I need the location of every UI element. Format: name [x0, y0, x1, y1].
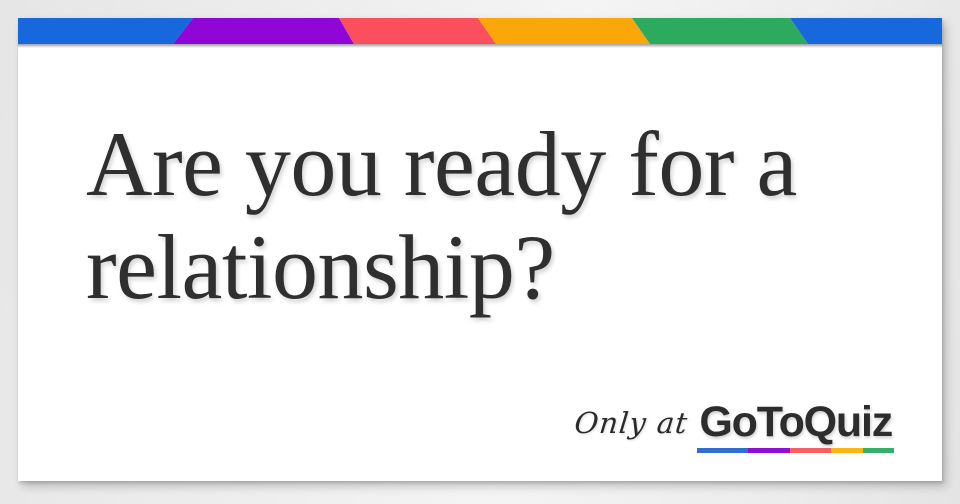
page-title-line-2: relationship?: [86, 216, 555, 318]
brand-tagline: Only at: [572, 406, 690, 453]
rainbow-stripe-band: [18, 18, 942, 44]
brand-rule-segment-red: [790, 448, 831, 453]
stripe-segment-blue-right: [790, 18, 942, 44]
brand-rule-segment-blue: [697, 448, 748, 453]
stripe-segment-blue-left: [18, 18, 193, 44]
page-title-line-1: Are you ready for a: [86, 113, 797, 215]
stripe-segment-red: [339, 18, 496, 44]
brand-rule-segment-green: [863, 448, 894, 453]
stripe-band-svg: [18, 18, 942, 44]
page-title: Are you ready for a relationship?: [86, 113, 886, 319]
stripe-segment-orange: [478, 18, 650, 44]
stripe-segment-green: [632, 18, 808, 44]
brand-logo[interactable]: GoToQuiz: [697, 401, 894, 453]
brand-wordmark: GoToQuiz: [697, 401, 894, 448]
brand-rule-segment-orange: [831, 448, 862, 453]
quiz-card: Are you ready for a relationship? Only a…: [18, 18, 942, 481]
brand-lockup[interactable]: Only at GoToQuiz: [574, 401, 894, 453]
stripe-band-shadow: [18, 44, 942, 48]
brand-rule: [697, 448, 894, 453]
brand-rule-segment-purple: [748, 448, 789, 453]
stripe-segment-purple: [173, 18, 354, 44]
